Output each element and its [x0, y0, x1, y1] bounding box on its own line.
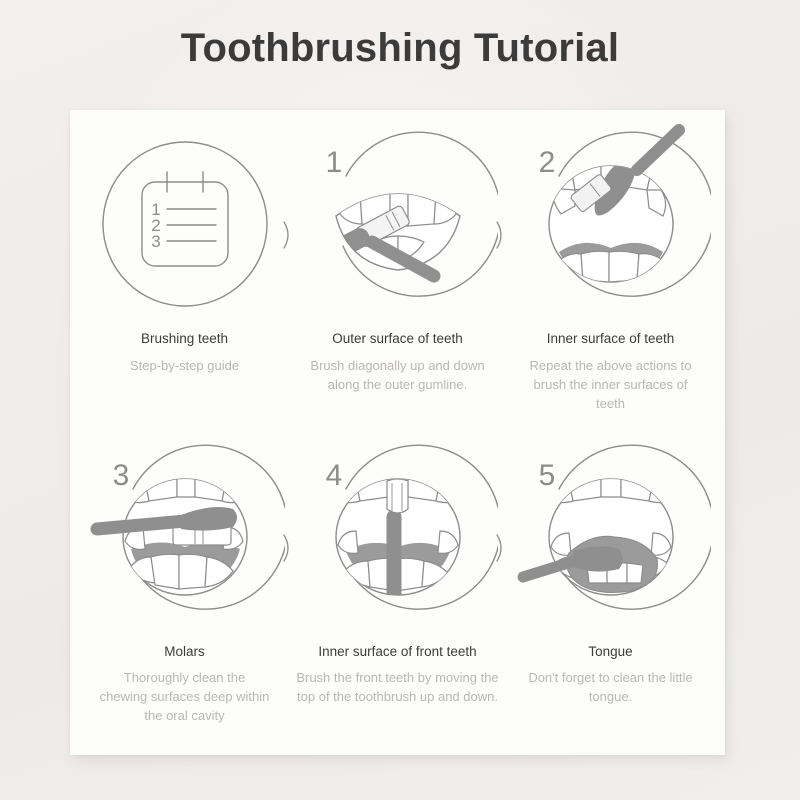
step-subtitle: Repeat the above actions to brush the in… — [525, 357, 697, 414]
step-title: Tongue — [588, 644, 632, 661]
mouth-front-teeth-icon: 4 — [298, 437, 498, 642]
mouth-tongue-icon: 5 — [511, 437, 711, 642]
step-title: Molars — [164, 644, 205, 661]
step-number: 5 — [538, 459, 555, 492]
step-title: Brushing teeth — [141, 331, 228, 348]
step-card-inner-surface[interactable]: 2 — [504, 124, 717, 437]
page-title: Toothbrushing Tutorial — [0, 26, 800, 71]
mouth-outer-surface-icon: 1 — [298, 124, 498, 329]
step-subtitle: Don't forget to clean the little tongue. — [525, 669, 697, 707]
tutorial-card: 1 2 3 Brushing teeth Step-by-step guide — [70, 110, 725, 755]
step-subtitle: Brush the front teeth by moving the top … — [295, 669, 501, 707]
step-subtitle: Step-by-step guide — [130, 357, 239, 376]
step-number: 1 — [325, 146, 342, 179]
step-number: 2 — [538, 146, 555, 179]
step-title: Inner surface of front teeth — [318, 644, 476, 661]
step-card-outer-surface[interactable]: 1 — [291, 124, 504, 437]
step-subtitle: Thoroughly clean the chewing surfaces de… — [99, 669, 271, 726]
mouth-inner-surface-icon: 2 — [511, 124, 711, 329]
step-title: Inner surface of teeth — [547, 331, 675, 348]
mouth-molars-icon: 3 — [85, 437, 285, 642]
step-card-molars[interactable]: 3 — [78, 437, 291, 750]
svg-text:3: 3 — [151, 232, 160, 251]
checklist-icon: 1 2 3 — [85, 124, 285, 329]
step-subtitle: Brush diagonally up and down along the o… — [295, 357, 501, 395]
step-title: Outer surface of teeth — [332, 331, 463, 348]
steps-grid: 1 2 3 Brushing teeth Step-by-step guide — [70, 110, 725, 755]
step-card-front-teeth[interactable]: 4 — [291, 437, 504, 750]
step-card-tongue[interactable]: 5 — [504, 437, 717, 750]
step-card-brushing-teeth[interactable]: 1 2 3 Brushing teeth Step-by-step guide — [78, 124, 291, 437]
step-number: 4 — [325, 459, 342, 492]
step-number: 3 — [112, 459, 129, 492]
